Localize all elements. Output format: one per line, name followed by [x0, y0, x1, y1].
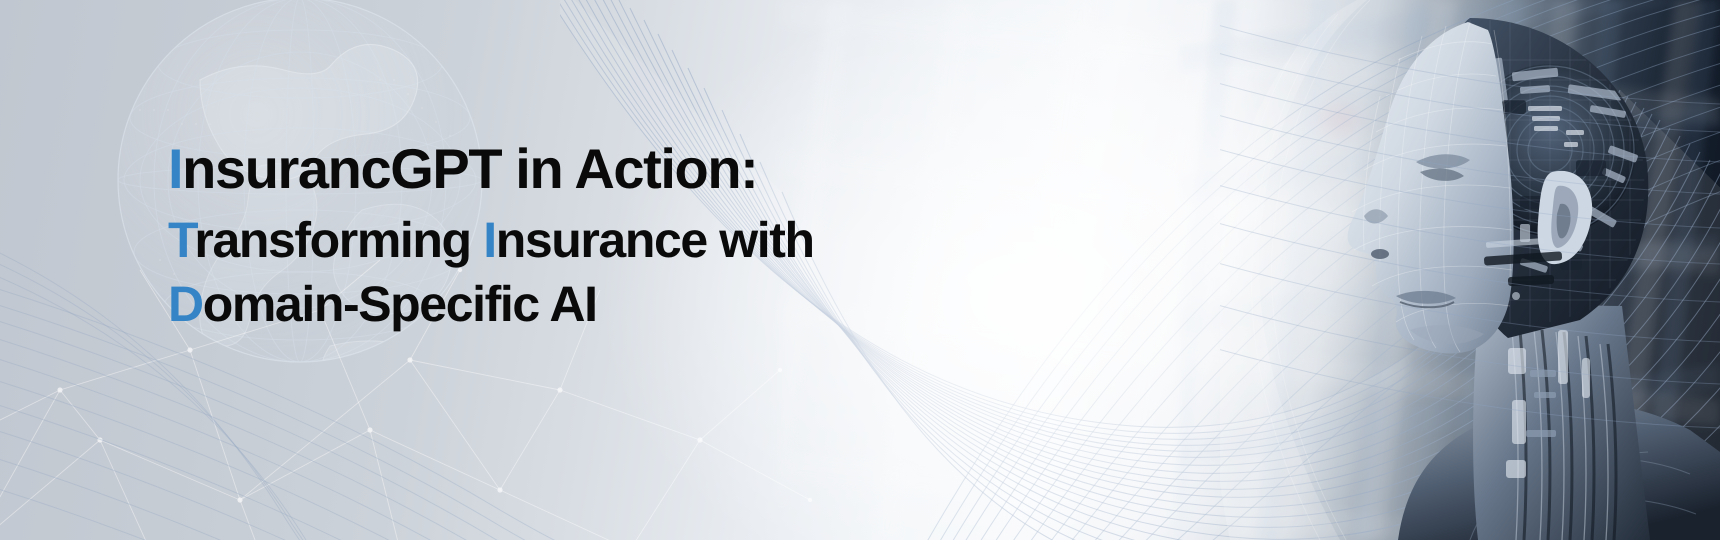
- headline-line-1: InsurancGPT in Action:: [168, 140, 814, 198]
- hero-banner: InsurancGPT in Action: Transforming Insu…: [0, 0, 1720, 540]
- headline-line-2: Transforming Insurance with: [168, 212, 814, 268]
- headline-block: InsurancGPT in Action: Transforming Insu…: [168, 140, 814, 332]
- headline-line-1-rest: nsurancGPT in Action:: [182, 137, 757, 200]
- headline-line-2-rest: ransforming: [194, 212, 483, 268]
- headline-cap-i2: I: [483, 212, 496, 268]
- headline-cap-t: T: [168, 212, 194, 268]
- headline-cap-d: D: [168, 276, 203, 332]
- headline-cap-i: I: [168, 137, 182, 200]
- headline-line-2-rest2: nsurance with: [496, 212, 814, 268]
- humanoid-robot-head-profile-icon: [1220, 0, 1720, 540]
- headline-line-3-rest: omain-Specific AI: [203, 276, 597, 332]
- headline-line-3: Domain-Specific AI: [168, 276, 814, 332]
